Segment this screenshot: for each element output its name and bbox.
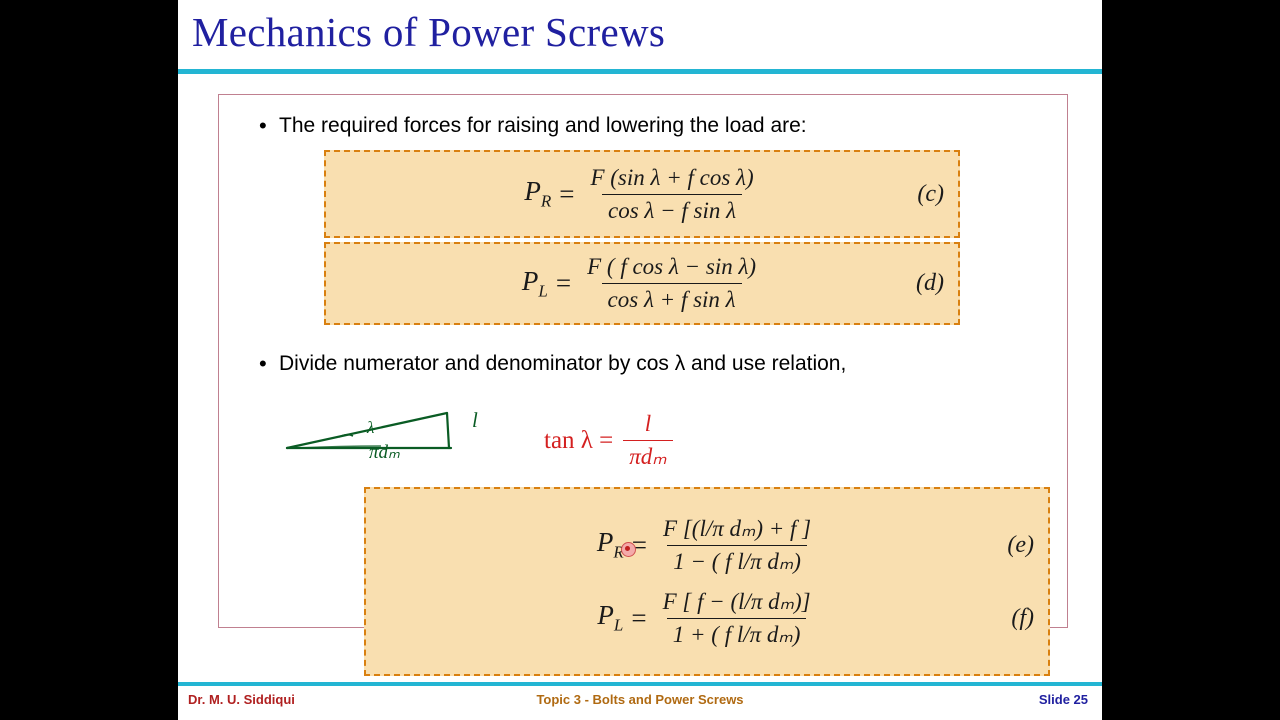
tan-relation-lhs: tan λ =	[544, 427, 613, 455]
equation-box-ef: PR = F [(l/π dₘ) + f ] 1 − ( f l/π dₘ) (…	[364, 487, 1050, 676]
equation-f-denominator: 1 + ( f l/π dₘ)	[667, 618, 807, 648]
equation-e-lhs: PR	[597, 527, 624, 562]
tan-relation-fraction: l πdₘ	[623, 411, 672, 470]
equation-e-fraction: F [(l/π dₘ) + f ] 1 − ( f l/π dₘ)	[657, 516, 817, 575]
equation-c-fraction: F (sin λ + f cos λ) cos λ − f sin λ	[584, 165, 759, 224]
sketch-base-label: πdₘ	[369, 441, 400, 464]
equation-d-lhs: PL	[522, 266, 548, 301]
equation-e-content: PR = F [(l/π dₘ) + f ] 1 − ( f l/π dₘ) (…	[366, 516, 1048, 575]
equation-f-lhs: PL	[597, 600, 623, 635]
equals-sign-f: =	[631, 603, 646, 634]
tan-lambda-relation: tan λ = l πdₘ	[544, 411, 673, 470]
slide-content-frame: • The required forces for raising and lo…	[218, 94, 1068, 628]
slide-canvas: Mechanics of Power Screws • The required…	[178, 0, 1102, 720]
slide-footer: Dr. M. U. Siddiqui Topic 3 - Bolts and P…	[178, 690, 1102, 716]
equation-box-c: PR = F (sin λ + f cos λ) cos λ − f sin λ…	[324, 150, 960, 238]
footer-slide-number: Slide 25	[1039, 692, 1088, 707]
tan-relation-numerator: l	[639, 411, 657, 440]
equation-d-numerator: F ( f cos λ − sin λ)	[581, 254, 762, 283]
sketch-hypotenuse-label: l	[472, 408, 478, 433]
equation-f-fraction: F [ f − (l/π dₘ)] 1 + ( f l/π dₘ)	[657, 589, 817, 648]
equation-label-f: (f)	[1011, 605, 1034, 632]
equation-f-content: PL = F [ f − (l/π dₘ)] 1 + ( f l/π dₘ) (…	[366, 589, 1048, 648]
equals-sign-c: =	[559, 179, 574, 210]
equation-c-lhs: PR	[524, 176, 551, 211]
red-marker-dot-icon	[621, 542, 636, 557]
equation-d-denominator: cos λ + f sin λ	[602, 283, 742, 313]
equation-label-c: (c)	[917, 181, 944, 208]
page-title: Mechanics of Power Screws	[192, 8, 665, 56]
equation-e-denominator: 1 − ( f l/π dₘ)	[667, 545, 807, 575]
equation-box-d: PL = F ( f cos λ − sin λ) cos λ + f sin …	[324, 242, 960, 325]
equation-c-content: PR = F (sin λ + f cos λ) cos λ − f sin λ	[326, 165, 958, 224]
bullet-item-1: • The required forces for raising and lo…	[259, 113, 807, 139]
equation-c-numerator: F (sin λ + f cos λ)	[584, 165, 759, 194]
slide-title-block: Mechanics of Power Screws	[178, 8, 1102, 74]
title-underline-rule	[178, 69, 1102, 74]
footer-rule	[178, 682, 1102, 686]
equals-sign-d: =	[556, 268, 571, 299]
bullet-dot-icon-2: •	[259, 351, 279, 377]
bullet-1-text: The required forces for raising and lowe…	[279, 113, 807, 139]
equation-label-e: (e)	[1007, 532, 1034, 559]
bullet-item-2: • Divide numerator and denominator by co…	[259, 351, 846, 377]
equation-e-numerator: F [(l/π dₘ) + f ]	[657, 516, 817, 545]
bullet-2-text: Divide numerator and denominator by cos …	[279, 351, 846, 377]
equation-label-d: (d)	[916, 270, 944, 297]
footer-topic: Topic 3 - Bolts and Power Screws	[178, 692, 1102, 707]
equation-c-denominator: cos λ − f sin λ	[602, 194, 742, 224]
bullet-dot-icon: •	[259, 113, 279, 139]
sketch-angle-label: λ	[367, 418, 374, 438]
tan-relation-denominator: πdₘ	[623, 440, 672, 470]
equation-d-content: PL = F ( f cos λ − sin λ) cos λ + f sin …	[326, 254, 958, 313]
equation-d-fraction: F ( f cos λ − sin λ) cos λ + f sin λ	[581, 254, 762, 313]
equation-f-numerator: F [ f − (l/π dₘ)]	[657, 589, 817, 618]
triangle-sketch: λ l πdₘ	[279, 375, 509, 485]
